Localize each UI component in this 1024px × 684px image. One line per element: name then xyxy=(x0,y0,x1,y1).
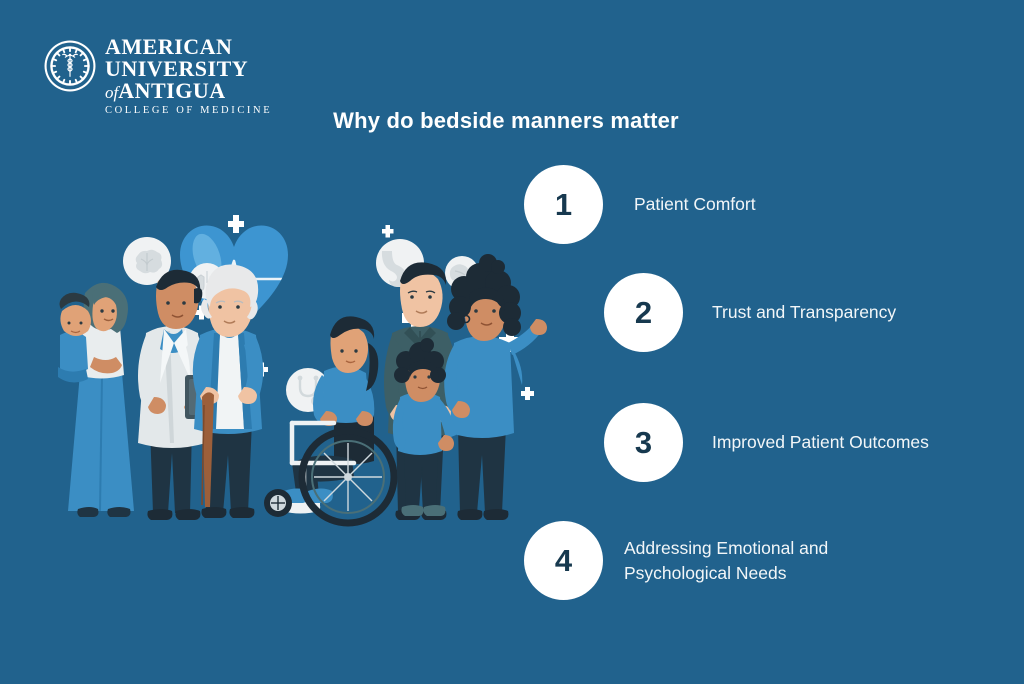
list-item-1-badge: 1 xyxy=(524,165,603,244)
list-item-3-number: 3 xyxy=(635,427,652,458)
list-item-4-label: Addressing Emotional and Psychological N… xyxy=(624,536,828,586)
list-item-1[interactable]: 1 Patient Comfort xyxy=(524,165,756,244)
list-item-3[interactable]: 3 Improved Patient Outcomes xyxy=(604,403,929,482)
list-item-3-badge: 3 xyxy=(604,403,683,482)
reasons-list: 1 Patient Comfort 2 Trust and Transparen… xyxy=(0,0,1024,684)
list-item-2-number: 2 xyxy=(635,297,652,328)
list-item-1-number: 1 xyxy=(555,189,572,220)
list-item-1-label: Patient Comfort xyxy=(634,192,756,217)
list-item-2[interactable]: 2 Trust and Transparency xyxy=(604,273,896,352)
list-item-3-label: Improved Patient Outcomes xyxy=(712,430,929,455)
list-item-4-badge: 4 xyxy=(524,521,603,600)
list-item-2-label: Trust and Transparency xyxy=(712,300,896,325)
list-item-2-badge: 2 xyxy=(604,273,683,352)
infographic-canvas: AMERICAN UNIVERSITY ofANTIGUA COLLEGE OF… xyxy=(0,0,1024,684)
list-item-4-number: 4 xyxy=(555,545,572,576)
list-item-4[interactable]: 4 Addressing Emotional and Psychological… xyxy=(524,521,828,600)
